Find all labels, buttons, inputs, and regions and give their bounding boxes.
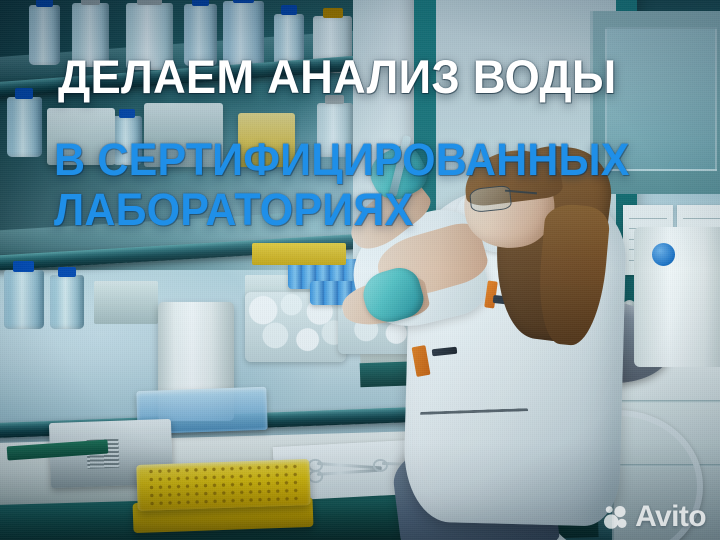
lab-background-photo (0, 0, 720, 540)
avito-circles-logo (603, 504, 630, 531)
ad-banner: ДЕЛАЕМ АНАЛИЗ ВОДЫ В СЕРТИФИЦИРОВАННЫХ Л… (0, 0, 720, 540)
film-grain-overlay (0, 0, 720, 540)
avito-watermark: Avito (603, 502, 706, 532)
avito-watermark-label: Avito (635, 502, 706, 532)
